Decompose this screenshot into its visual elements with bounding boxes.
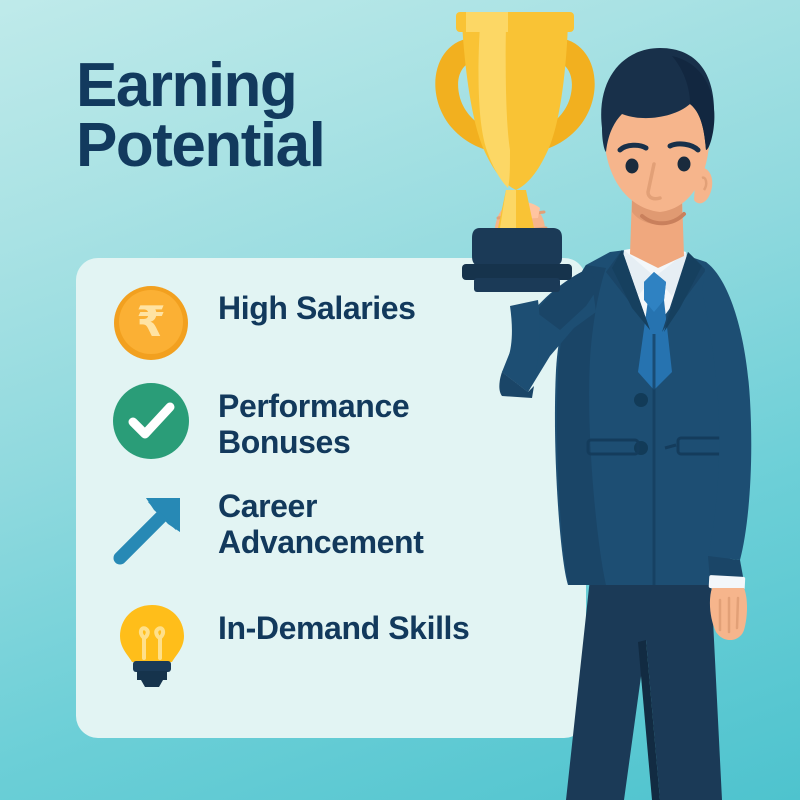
rupee-symbol: ₹ — [119, 290, 183, 354]
businessman-holding-trophy-illustration — [410, 0, 800, 800]
infographic-canvas: Earning Potential ₹ High Salaries Perfor — [0, 0, 800, 800]
lightbulb-icon — [110, 602, 192, 684]
list-item-label: High Salaries — [218, 282, 416, 326]
up-right-arrow-icon — [110, 486, 192, 568]
list-item: ₹ High Salaries — [110, 282, 416, 364]
page-title-line-1: Earning — [76, 51, 296, 120]
check-circle-icon — [110, 380, 192, 462]
rupee-coin-icon: ₹ — [110, 282, 192, 364]
